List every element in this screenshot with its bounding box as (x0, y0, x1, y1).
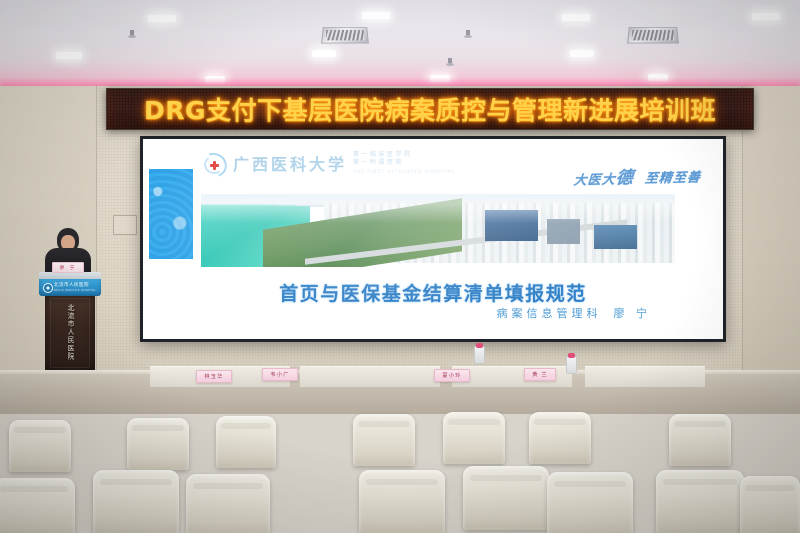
speaker-nameplate: 廖 宁 (52, 262, 84, 273)
audience-chair (463, 466, 549, 530)
audience-chair (547, 472, 633, 533)
university-sub-line2: 第一附属医院 (353, 159, 404, 166)
ceiling-spotlight (56, 52, 82, 59)
banner-title-text: DRG支付下基层医院病案质控与管理新进展培训班 (144, 91, 716, 127)
ceiling-spotlight (312, 50, 336, 57)
photo-haze (201, 194, 675, 267)
audience-chair (656, 470, 744, 533)
calligraphy-left: 大医大 (573, 173, 616, 189)
ceiling-sprinkler (130, 30, 134, 36)
audience-chair (127, 418, 189, 470)
projection-screen: 广西医科大学 第一临床医学院 第一附属医院 THE FIRST AFFILIAT… (140, 136, 726, 342)
presentation-slide: 广西医科大学 第一临床医学院 第一附属医院 THE FIRST AFFILIAT… (143, 139, 723, 339)
slide-department: 病案信息管理科 (497, 307, 602, 320)
ceiling-spotlight (752, 13, 780, 20)
audience-chair (529, 412, 591, 464)
slide-title: 首页与医保基金结算清单填报规范 (143, 279, 723, 306)
audience-chair (353, 414, 415, 466)
audience-chair (359, 470, 445, 533)
audience-chair (669, 414, 731, 466)
audience-chair (443, 412, 505, 464)
calligraphy-left-big: 德 (615, 168, 635, 188)
podium-hospital-band: 北流市人民医院 BEILIU PEOPLE'S HOSPITAL (39, 279, 101, 296)
audience-area (0, 330, 800, 533)
ceiling-spotlight (362, 12, 390, 19)
ceiling-air-vent (627, 27, 679, 43)
ceiling-spotlight (570, 50, 594, 57)
ceiling-air-vent (321, 27, 369, 43)
podium-hospital-name-en: BEILIU PEOPLE'S HOSPITAL (54, 289, 96, 292)
audience-chair (740, 476, 800, 533)
audience-chair (9, 420, 71, 472)
podium-hospital-name: 北流市人民医院 (54, 282, 89, 288)
audience-chair (216, 416, 276, 468)
audience-chair (0, 478, 75, 533)
audience-chair (93, 470, 179, 533)
calligraphy-right: 至精至善 (644, 170, 701, 186)
wall-access-panel (113, 215, 137, 235)
ceiling-spotlight (148, 15, 176, 22)
university-sub-name: 第一临床医学院 第一附属医院 THE FIRST AFFILIATED HOSP… (353, 151, 455, 177)
ceiling-spotlight (562, 14, 590, 21)
red-cross-icon (210, 161, 219, 170)
slide-header: 广西医科大学 第一临床医学院 第一附属医院 THE FIRST AFFILIAT… (201, 147, 713, 189)
university-sub-line1: 第一临床医学院 (353, 151, 413, 158)
led-banner: DRG支付下基层医院病案质控与管理新进展培训班 (106, 88, 754, 130)
slide-presenter-line: 病案信息管理科廖 宁 (485, 305, 652, 321)
slide-decoration-block (149, 169, 193, 259)
university-name: 广西医科大学 (233, 151, 347, 175)
hospital-logo-icon (43, 283, 53, 293)
university-logo-icon (201, 153, 227, 177)
university-sub-english: THE FIRST AFFILIATED HOSPITAL (353, 169, 455, 177)
ceiling-sprinkler (448, 58, 452, 64)
ceiling-sprinkler (466, 30, 470, 36)
cityscape-photo (201, 194, 675, 267)
audience-chair (186, 474, 270, 533)
calligraphy-motto: 大医大德 至精至善 (573, 161, 702, 189)
conference-room-photo: DRG支付下基层医院病案质控与管理新进展培训班 广西医科大学 第一临床医学院 第… (0, 0, 800, 533)
slide-presenter: 廖 宁 (614, 307, 652, 320)
